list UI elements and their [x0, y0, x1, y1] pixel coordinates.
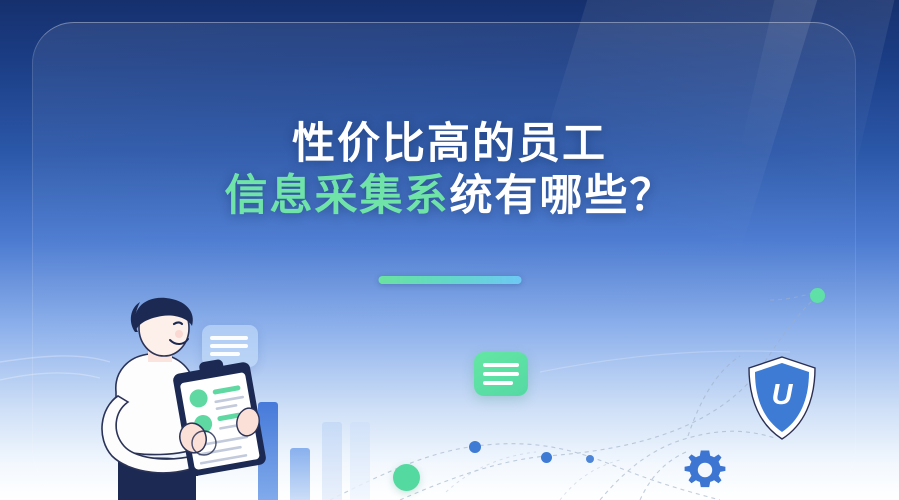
headline-line-2: 信息采集系统有哪些？: [0, 170, 899, 222]
title-divider: [378, 276, 521, 284]
headline-line-1: 性价比高的员工: [0, 118, 899, 170]
bubble-line: [483, 372, 519, 376]
shield-letter: U: [746, 379, 818, 412]
bar-2: [290, 448, 310, 500]
headline-green-segment: 信息采集系: [225, 172, 450, 220]
bar-4: [350, 422, 370, 500]
bubble-line: [483, 381, 513, 385]
data-node-green-icon: [393, 464, 420, 491]
promo-banner: 性价比高的员工 信息采集系统有哪些？ U: [0, 0, 899, 500]
gear-icon: [682, 447, 728, 493]
data-node-green-small-icon: [810, 288, 825, 303]
person-illustration: [78, 296, 293, 500]
green-text-bubble-icon: [474, 352, 528, 396]
data-node-blue-1-icon: [469, 441, 481, 453]
data-node-blue-3-icon: [586, 455, 594, 463]
bar-3: [322, 422, 342, 500]
data-node-blue-2-icon: [541, 452, 552, 463]
bubble-line: [483, 363, 519, 367]
page-title: 性价比高的员工 信息采集系统有哪些？: [0, 118, 899, 223]
security-shield-badge: U: [746, 355, 818, 441]
headline-white-segment: 统有哪些？: [450, 172, 675, 220]
